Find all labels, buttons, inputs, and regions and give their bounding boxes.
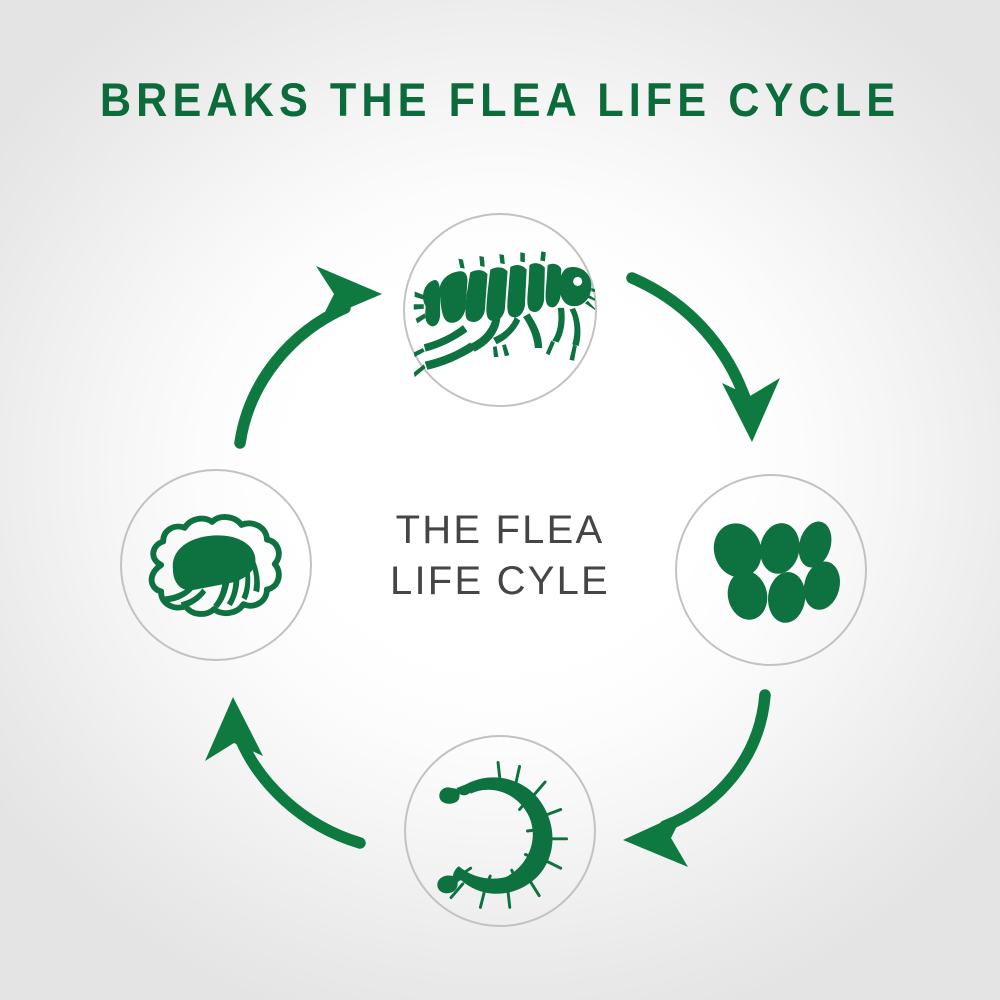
eggs-icon: [677, 476, 865, 664]
center-label: THE FLEA LIFE CYLE: [330, 505, 670, 607]
cocoon-outline: [152, 517, 279, 614]
infographic-canvas: BREAKS THE FLEA LIFE CYCLE: [0, 0, 1000, 1000]
arrow-larva-to-pupa: [205, 697, 360, 843]
pupa-flea-body: [165, 535, 260, 608]
cycle-node-pupa[interactable]: [120, 469, 312, 661]
cycle-node-eggs[interactable]: [675, 474, 867, 666]
pupa-icon: [122, 471, 310, 659]
flea-icon: [405, 215, 595, 405]
larva-icon: [406, 737, 594, 925]
cycle-node-larva[interactable]: [404, 735, 596, 927]
cycle-node-adult-flea[interactable]: [403, 213, 597, 407]
arrow-eggs-to-larva: [623, 695, 765, 867]
arrow-pupa-to-adult: [240, 266, 382, 443]
page-title: BREAKS THE FLEA LIFE CYCLE: [40, 74, 960, 126]
center-label-line2: LIFE CYLE: [330, 556, 670, 607]
arrow-adult-to-eggs: [632, 278, 780, 442]
center-label-line1: THE FLEA: [330, 505, 670, 556]
larva-body: [437, 777, 552, 893]
larva-bristles: [451, 762, 567, 907]
